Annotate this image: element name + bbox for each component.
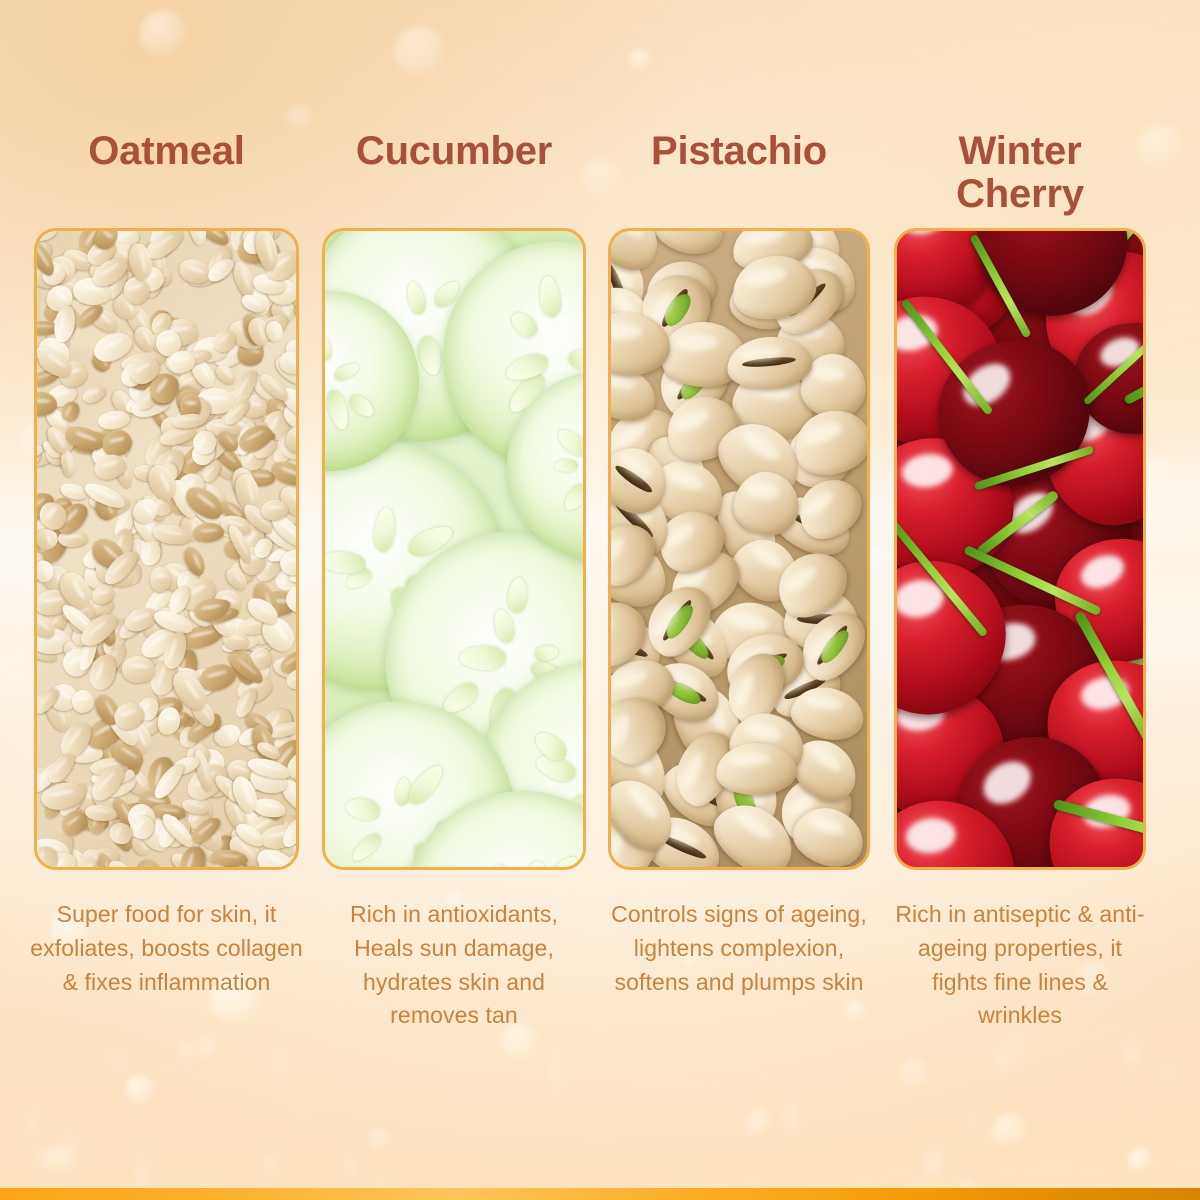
ingredient-title-winter-cherry: Winter Cherry (894, 130, 1146, 216)
cucumber-seed (534, 644, 560, 663)
cucumber-photo (325, 231, 583, 867)
cucumber-seed (460, 646, 507, 670)
ingredient-title-cucumber: Cucumber (322, 130, 586, 173)
cucumber-seed (344, 795, 381, 822)
cucumber-seed (345, 391, 376, 420)
ingredient-card-cucumber[interactable] (322, 228, 586, 870)
ingredient-column-pistachio: Pistachio Controls signs of ageing, ligh… (608, 0, 870, 1200)
cucumber-seed (348, 830, 384, 865)
ingredient-column-oatmeal: Oatmeal Super food for skin, it exfoliat… (34, 0, 299, 1200)
cucumber-seed (516, 858, 551, 867)
pistachio-kernel (663, 601, 698, 642)
ingredient-column-winter-cherry: Winter Cherry Rich in antiseptic & anti-… (894, 0, 1146, 1200)
cucumber-seed (567, 348, 583, 370)
cucumber-seed (554, 425, 583, 461)
pistachio-kernel (816, 627, 852, 668)
pistachio-photo (611, 231, 867, 867)
cucumber-seed (490, 862, 516, 867)
cucumber-seed (325, 338, 332, 361)
ingredient-caption-oatmeal: Super food for skin, it exfoliates, boos… (30, 898, 303, 999)
ingredient-caption-pistachio: Controls signs of ageing, lightens compl… (604, 898, 874, 999)
ingredient-title-pistachio: Pistachio (608, 130, 870, 173)
ingredient-card-winter-cherry[interactable] (894, 228, 1146, 870)
oatmeal-photo (37, 231, 296, 867)
cucumber-seed (491, 607, 517, 644)
ingredient-title-oatmeal: Oatmeal (34, 130, 299, 173)
cucumber-seed (507, 308, 541, 342)
cucumber-seed (333, 360, 362, 383)
pistachio-shell-split (741, 355, 796, 368)
ingredient-column-cucumber: Cucumber Rich in antioxidants, Heals sun… (322, 0, 586, 1200)
cucumber-seed (580, 302, 583, 343)
cucumber-seed (372, 507, 396, 552)
cucumber-seed (405, 280, 428, 316)
pistachio-shell-split (614, 462, 656, 495)
cucumber-seed (554, 460, 577, 472)
ingredient-card-oatmeal[interactable] (34, 228, 299, 870)
ingredient-card-pistachio[interactable] (608, 228, 870, 870)
winter-cherry-photo (897, 231, 1143, 867)
ingredient-caption-cucumber: Rich in antioxidants, Heals sun damage, … (318, 898, 590, 1033)
cucumber-seed (537, 275, 563, 319)
cucumber-seed (560, 480, 583, 514)
cucumber-seed (415, 335, 444, 377)
cucumber-seed (540, 851, 583, 867)
cucumber-seed (507, 577, 529, 614)
ingredient-caption-winter-cherry: Rich in antiseptic & anti-ageing propert… (890, 898, 1150, 1033)
ingredient-grid: Oatmeal Super food for skin, it exfoliat… (0, 0, 1200, 1200)
cucumber-seed (325, 388, 351, 431)
